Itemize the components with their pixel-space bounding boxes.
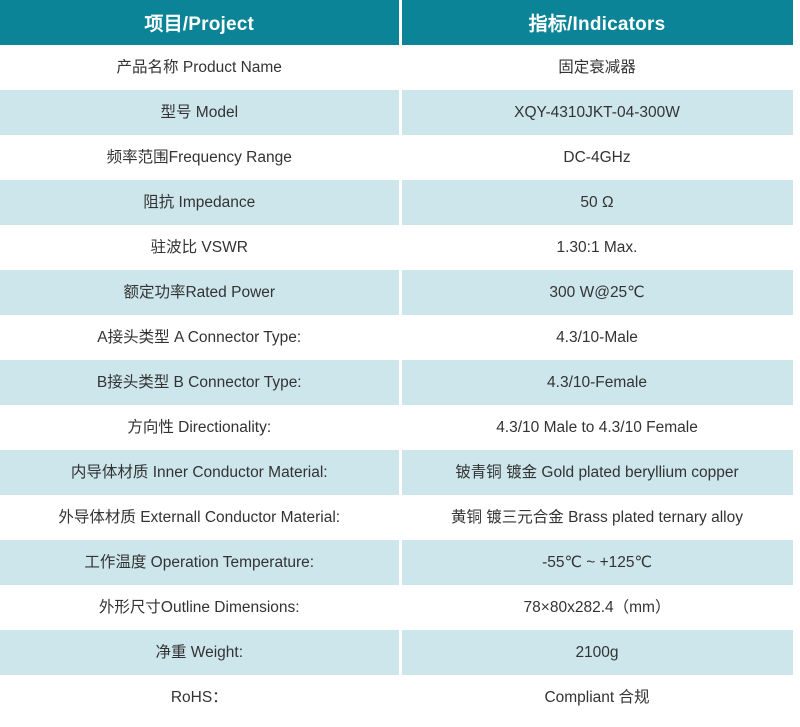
table-row: 净重 Weight:2100g <box>0 630 800 675</box>
table-row: 型号 ModelXQY-4310JKT-04-300W <box>0 90 800 135</box>
cell-project: 内导体材质 Inner Conductor Material: <box>0 450 400 495</box>
cell-indicator: 铍青铜 镀金 Gold plated beryllium copper <box>400 450 800 495</box>
cell-project: 工作温度 Operation Temperature: <box>0 540 400 585</box>
cell-indicator: 78×80x282.4（mm） <box>400 585 800 630</box>
cell-indicator: 固定衰减器 <box>400 45 800 90</box>
cell-project: 额定功率Rated Power <box>0 270 400 315</box>
table-row: B接头类型 B Connector Type:4.3/10-Female <box>0 360 800 405</box>
cell-indicator: 4.3/10 Male to 4.3/10 Female <box>400 405 800 450</box>
cell-indicator: 4.3/10-Female <box>400 360 800 405</box>
table-row: 额定功率Rated Power300 W@25℃ <box>0 270 800 315</box>
cell-project: 型号 Model <box>0 90 400 135</box>
specification-table: 项目/Project 指标/Indicators 产品名称 Product Na… <box>0 0 800 720</box>
cell-project: RoHS： <box>0 675 400 720</box>
column-header-project: 项目/Project <box>0 0 400 45</box>
cell-indicator: Compliant 合规 <box>400 675 800 720</box>
cell-project: 方向性 Directionality: <box>0 405 400 450</box>
cell-project: 产品名称 Product Name <box>0 45 400 90</box>
table-row: 驻波比 VSWR1.30:1 Max. <box>0 225 800 270</box>
cell-project: 外形尺寸Outline Dimensions: <box>0 585 400 630</box>
cell-project: 阻抗 Impedance <box>0 180 400 225</box>
table-row: RoHS：Compliant 合规 <box>0 675 800 720</box>
table-row: 外导体材质 Externall Conductor Material:黄铜 镀三… <box>0 495 800 540</box>
header-row: 项目/Project 指标/Indicators <box>0 0 800 45</box>
cell-project: 频率范围Frequency Range <box>0 135 400 180</box>
table-row: 方向性 Directionality:4.3/10 Male to 4.3/10… <box>0 405 800 450</box>
cell-indicator: 1.30:1 Max. <box>400 225 800 270</box>
table-row: 产品名称 Product Name固定衰减器 <box>0 45 800 90</box>
column-header-indicators: 指标/Indicators <box>400 0 800 45</box>
cell-indicator: 2100g <box>400 630 800 675</box>
cell-project: A接头类型 A Connector Type: <box>0 315 400 360</box>
table-row: 阻抗 Impedance50 Ω <box>0 180 800 225</box>
cell-project: 驻波比 VSWR <box>0 225 400 270</box>
table-row: 内导体材质 Inner Conductor Material:铍青铜 镀金 Go… <box>0 450 800 495</box>
cell-indicator: DC-4GHz <box>400 135 800 180</box>
table-row: A接头类型 A Connector Type:4.3/10-Male <box>0 315 800 360</box>
table-row: 频率范围Frequency RangeDC-4GHz <box>0 135 800 180</box>
cell-indicator: 300 W@25℃ <box>400 270 800 315</box>
table-body: 产品名称 Product Name固定衰减器型号 ModelXQY-4310JK… <box>0 45 800 720</box>
cell-indicator: 黄铜 镀三元合金 Brass plated ternary alloy <box>400 495 800 540</box>
cell-indicator: -55℃ ~ +125℃ <box>400 540 800 585</box>
cell-project: B接头类型 B Connector Type: <box>0 360 400 405</box>
cell-indicator: 50 Ω <box>400 180 800 225</box>
table-row: 外形尺寸Outline Dimensions:78×80x282.4（mm） <box>0 585 800 630</box>
cell-project: 外导体材质 Externall Conductor Material: <box>0 495 400 540</box>
table-row: 工作温度 Operation Temperature:-55℃ ~ +125℃ <box>0 540 800 585</box>
cell-project: 净重 Weight: <box>0 630 400 675</box>
cell-indicator: 4.3/10-Male <box>400 315 800 360</box>
cell-indicator: XQY-4310JKT-04-300W <box>400 90 800 135</box>
table-header: 项目/Project 指标/Indicators <box>0 0 800 45</box>
